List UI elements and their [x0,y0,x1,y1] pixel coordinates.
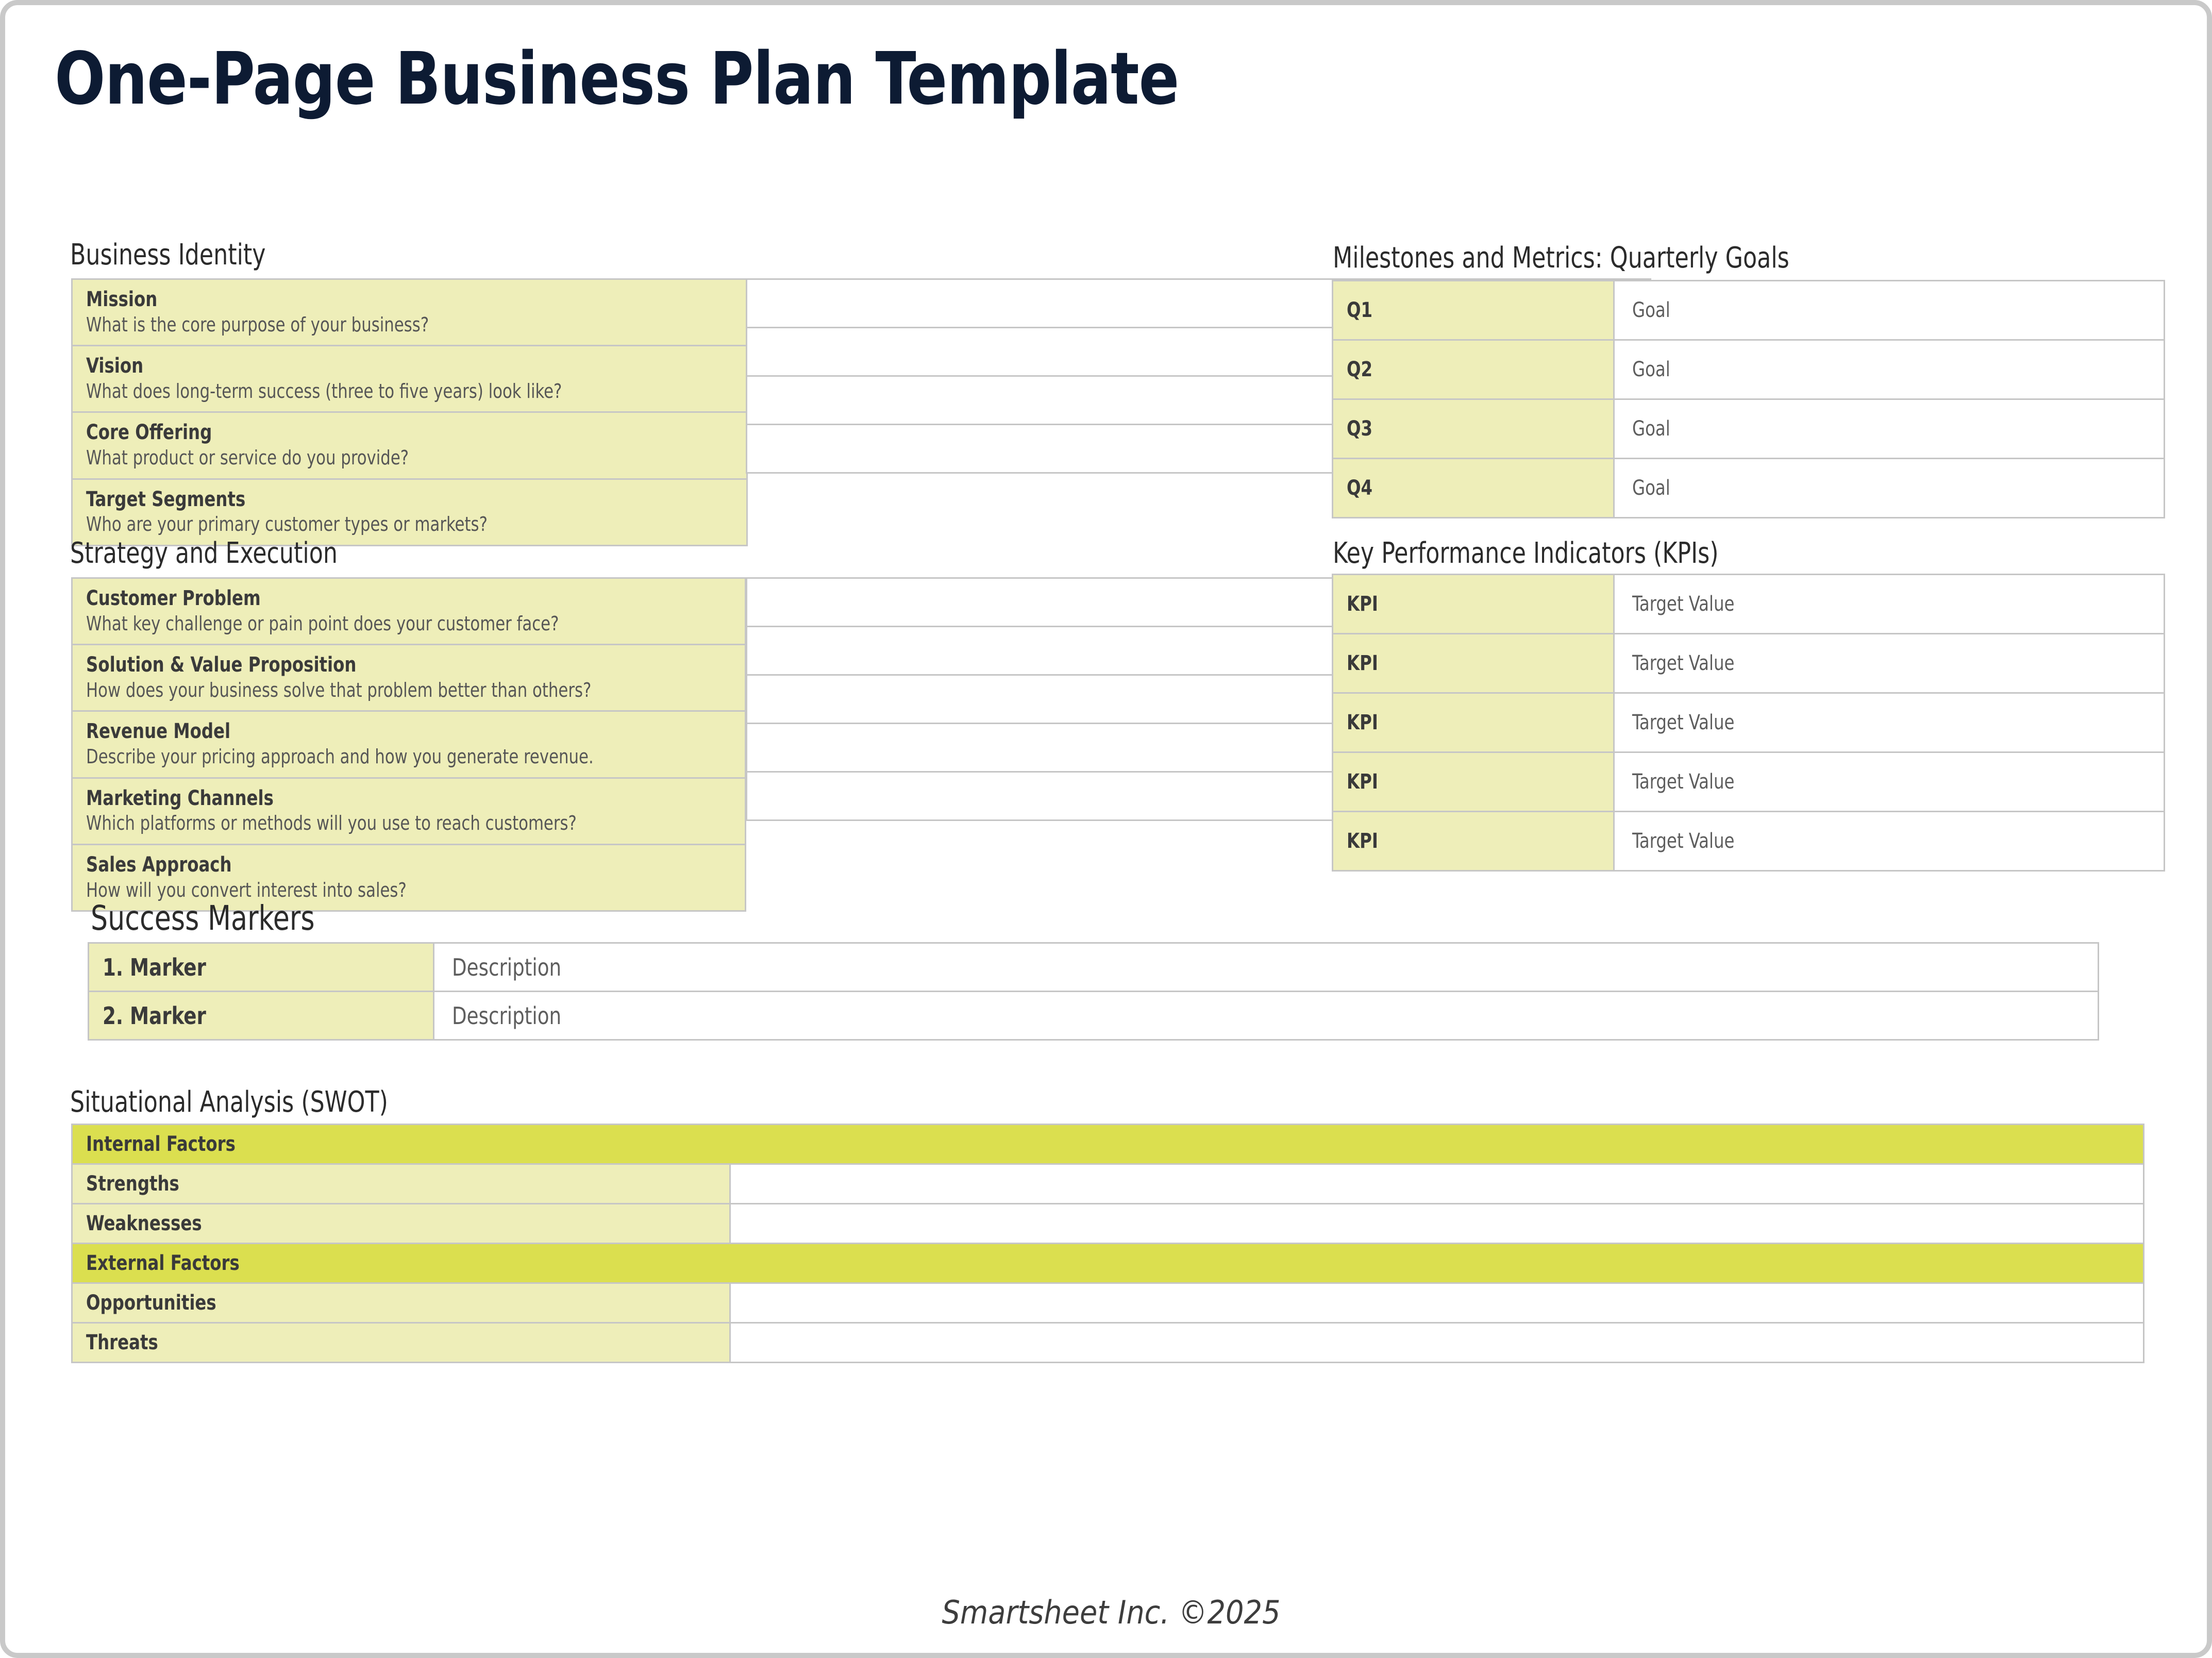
swot-input-cell-strengths[interactable] [730,1164,2144,1204]
table-row: Weaknesses [72,1204,2144,1244]
row-prompt: Describe your pricing approach and how y… [86,744,667,769]
business-identity-label-cell[interactable]: Mission What is the core purpose of your… [72,279,747,346]
goal-placeholder: Goal [1632,417,2094,441]
strategy-label-cell[interactable]: Marketing Channels Which platforms or me… [72,778,746,844]
swot-band-internal-factors: Internal Factors [72,1125,2144,1164]
section-heading-kpis: Key Performance Indicators (KPIs) [1333,537,1719,570]
strategy-label-cell[interactable]: Customer Problem What key challenge or p… [72,578,746,645]
table-row: Revenue Model Describe your pricing appr… [72,711,746,778]
footer-copyright: Smartsheet Inc. ©2025 [5,1594,2212,1631]
kpi-target-cell[interactable]: Target Value [1614,812,2165,871]
quarter-label: Q1 [1347,298,1574,322]
swot-table: Internal Factors Strengths Weaknesses Ex… [71,1124,2144,1363]
kpi-target-placeholder: Target Value [1632,770,2094,794]
row-prompt: What does long-term success (three to fi… [86,379,668,404]
swot-row-label: Strengths [86,1172,653,1196]
table-row: Q3 Goal [1333,399,2165,459]
milestone-quarter-cell[interactable]: Q4 [1333,459,1614,518]
swot-row-label: Threats [86,1331,653,1354]
section-heading-milestones: Milestones and Metrics: Quarterly Goals [1333,241,1789,275]
table-row: Core Offering What product or service do… [72,412,747,479]
row-title: Revenue Model [86,719,667,744]
table-row: Opportunities [72,1283,2144,1323]
row-prompt: What key challenge or pain point does yo… [86,611,667,637]
kpi-label: KPI [1347,770,1574,794]
row-prompt: What product or service do you provide? [86,445,668,471]
row-title: Solution & Value Proposition [86,652,667,678]
business-identity-label-cell[interactable]: Vision What does long-term success (thre… [72,346,747,412]
milestone-goal-cell[interactable]: Goal [1614,399,2165,459]
kpi-target-cell[interactable]: Target Value [1614,693,2165,752]
goal-placeholder: Goal [1632,298,2094,322]
table-row: Marketing Channels Which platforms or me… [72,778,746,844]
table-row: Q4 Goal [1333,459,2165,518]
row-title: Customer Problem [86,586,667,611]
kpi-target-placeholder: Target Value [1632,592,2094,616]
kpi-target-cell[interactable]: Target Value [1614,575,2165,634]
row-prompt: Which platforms or methods will you use … [86,811,667,836]
swot-label-cell-opportunities[interactable]: Opportunities [72,1283,730,1323]
milestone-quarter-cell[interactable]: Q2 [1333,340,1614,399]
swot-label-cell-threats[interactable]: Threats [72,1323,730,1363]
row-title: Mission [86,287,668,312]
kpi-target-cell[interactable]: Target Value [1614,752,2165,812]
strategy-label-cell[interactable]: Revenue Model Describe your pricing appr… [72,711,746,778]
swot-row-label: Weaknesses [86,1212,653,1235]
row-title: Sales Approach [86,852,667,878]
marker-label: 1. Marker [103,953,388,981]
marker-description-placeholder: Description [452,1002,1917,1030]
kpi-name-cell[interactable]: KPI [1333,693,1614,752]
document-page: One-Page Business Plan Template Business… [0,0,2212,1658]
row-prompt: How does your business solve that proble… [86,678,667,703]
kpi-name-cell[interactable]: KPI [1333,575,1614,634]
success-marker-description-cell[interactable]: Description [434,943,2099,992]
swot-label-cell-weaknesses[interactable]: Weaknesses [72,1204,730,1244]
table-row: KPI Target Value [1333,575,2165,634]
table-row: 2. Marker Description [89,992,2099,1040]
table-row: Internal Factors [72,1125,2144,1164]
success-marker-label-cell[interactable]: 1. Marker [89,943,434,992]
swot-band-label: Internal Factors [86,1132,1925,1156]
success-marker-label-cell[interactable]: 2. Marker [89,992,434,1040]
table-row: KPI Target Value [1333,693,2165,752]
swot-input-cell-opportunities[interactable] [730,1283,2144,1323]
business-identity-label-cell[interactable]: Target Segments Who are your primary cus… [72,479,747,545]
swot-band-label: External Factors [86,1251,1925,1275]
page-title: One-Page Business Plan Template [55,37,1179,121]
business-identity-label-cell[interactable]: Core Offering What product or service do… [72,412,747,479]
milestone-goal-cell[interactable]: Goal [1614,459,2165,518]
kpi-label: KPI [1347,592,1574,616]
swot-label-cell-strengths[interactable]: Strengths [72,1164,730,1204]
business-identity-table: Mission What is the core purpose of your… [71,278,748,546]
success-marker-description-cell[interactable]: Description [434,992,2099,1040]
goal-placeholder: Goal [1632,358,2094,381]
table-row: Target Segments Who are your primary cus… [72,479,747,545]
row-title: Marketing Channels [86,786,667,811]
table-row: 1. Marker Description [89,943,2099,992]
goal-placeholder: Goal [1632,476,2094,500]
table-row: Q2 Goal [1333,340,2165,399]
row-title: Vision [86,354,668,379]
table-row: Q1 Goal [1333,281,2165,340]
table-row: Vision What does long-term success (thre… [72,346,747,412]
swot-input-cell-weaknesses[interactable] [730,1204,2144,1244]
table-row: Customer Problem What key challenge or p… [72,578,746,645]
milestone-goal-cell[interactable]: Goal [1614,281,2165,340]
kpi-table: KPI Target Value KPI Target Value KPI [1332,574,2165,872]
marker-description-placeholder: Description [452,953,1917,981]
row-title: Target Segments [86,487,668,512]
table-row: Solution & Value Proposition How does yo… [72,645,746,711]
kpi-name-cell[interactable]: KPI [1333,812,1614,871]
kpi-label: KPI [1347,651,1574,675]
table-row: External Factors [72,1244,2144,1283]
section-heading-strategy-execution: Strategy and Execution [70,537,338,570]
swot-band-external-factors: External Factors [72,1244,2144,1283]
kpi-target-cell[interactable]: Target Value [1614,634,2165,693]
table-row: Threats [72,1323,2144,1363]
kpi-label: KPI [1347,829,1574,853]
table-row: KPI Target Value [1333,634,2165,693]
milestone-quarter-cell[interactable]: Q3 [1333,399,1614,459]
kpi-target-placeholder: Target Value [1632,711,2094,734]
milestone-goal-cell[interactable]: Goal [1614,340,2165,399]
table-row: Mission What is the core purpose of your… [72,279,747,346]
kpi-target-placeholder: Target Value [1632,651,2094,675]
row-prompt: What is the core purpose of your busines… [86,312,668,338]
quarter-label: Q3 [1347,417,1574,441]
kpi-name-cell[interactable]: KPI [1333,752,1614,812]
strategy-label-cell[interactable]: Solution & Value Proposition How does yo… [72,645,746,711]
kpi-name-cell[interactable]: KPI [1333,634,1614,693]
section-heading-business-identity: Business Identity [70,238,266,272]
table-row: KPI Target Value [1333,812,2165,871]
success-markers-table: 1. Marker Description 2. Marker Descript… [88,942,2099,1041]
swot-row-label: Opportunities [86,1291,653,1315]
kpi-target-placeholder: Target Value [1632,829,2094,853]
quarter-label: Q4 [1347,476,1574,500]
strategy-execution-table: Customer Problem What key challenge or p… [71,577,746,912]
row-prompt: Who are your primary customer types or m… [86,512,668,537]
section-heading-swot: Situational Analysis (SWOT) [70,1085,388,1119]
row-title: Core Offering [86,420,668,445]
section-heading-success-markers: Success Markers [91,898,315,938]
kpi-label: KPI [1347,711,1574,734]
milestone-quarter-cell[interactable]: Q1 [1333,281,1614,340]
swot-input-cell-threats[interactable] [730,1323,2144,1363]
quarter-label: Q2 [1347,358,1574,381]
marker-label: 2. Marker [103,1002,388,1030]
table-row: Strengths [72,1164,2144,1204]
table-row: KPI Target Value [1333,752,2165,812]
milestones-table: Q1 Goal Q2 Goal Q3 Goal [1332,280,2165,518]
